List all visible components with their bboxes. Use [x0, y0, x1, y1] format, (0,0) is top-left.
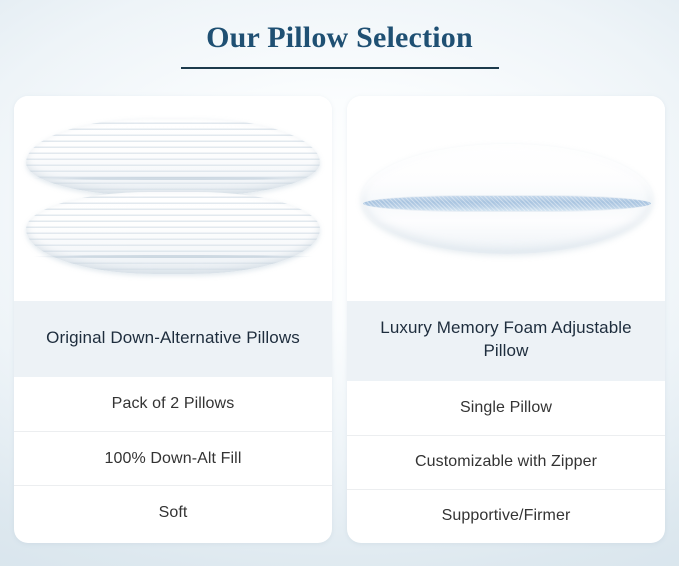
- product-card-memory-foam[interactable]: Luxury Memory Foam Adjustable Pillow Sin…: [347, 96, 665, 543]
- pillow-stack-graphic: [14, 96, 332, 301]
- product-title-band-memory-foam: Luxury Memory Foam Adjustable Pillow: [347, 301, 665, 381]
- striped-pillow-bottom: [26, 192, 320, 274]
- product-title-down-alternative: Original Down-Alternative Pillows: [46, 327, 300, 350]
- memory-foam-pillow-image: [347, 96, 665, 301]
- spec-row-fill-left: 100% Down-Alt Fill: [14, 431, 332, 485]
- spec-row-customization-right: Customizable with Zipper: [347, 435, 665, 489]
- product-card-down-alternative[interactable]: Original Down-Alternative Pillows Pack o…: [14, 96, 332, 543]
- spec-row-quantity-left: Pack of 2 Pillows: [14, 377, 332, 431]
- spec-row-quantity-right: Single Pillow: [347, 381, 665, 435]
- page-header: Our Pillow Selection: [0, 0, 679, 96]
- striped-pillow-top: [26, 118, 320, 196]
- title-divider-rule: [181, 67, 499, 69]
- foam-pillow-blue-gusset: [363, 195, 651, 212]
- pillow-seam-bottom: [32, 255, 314, 258]
- product-title-band-down-alternative: Original Down-Alternative Pillows: [14, 301, 332, 377]
- pillow-seam-top: [32, 177, 314, 180]
- stacked-striped-pillows-image: [14, 96, 332, 301]
- product-card-list: Original Down-Alternative Pillows Pack o…: [14, 96, 665, 543]
- page-title: Our Pillow Selection: [206, 22, 473, 54]
- memory-foam-graphic: [347, 96, 665, 301]
- spec-row-firmness-right: Supportive/Firmer: [347, 489, 665, 543]
- pillow-comparison-page: Our Pillow Selection Original Down-Alter…: [0, 0, 679, 566]
- product-title-memory-foam: Luxury Memory Foam Adjustable Pillow: [367, 317, 645, 363]
- spec-row-firmness-left: Soft: [14, 485, 332, 539]
